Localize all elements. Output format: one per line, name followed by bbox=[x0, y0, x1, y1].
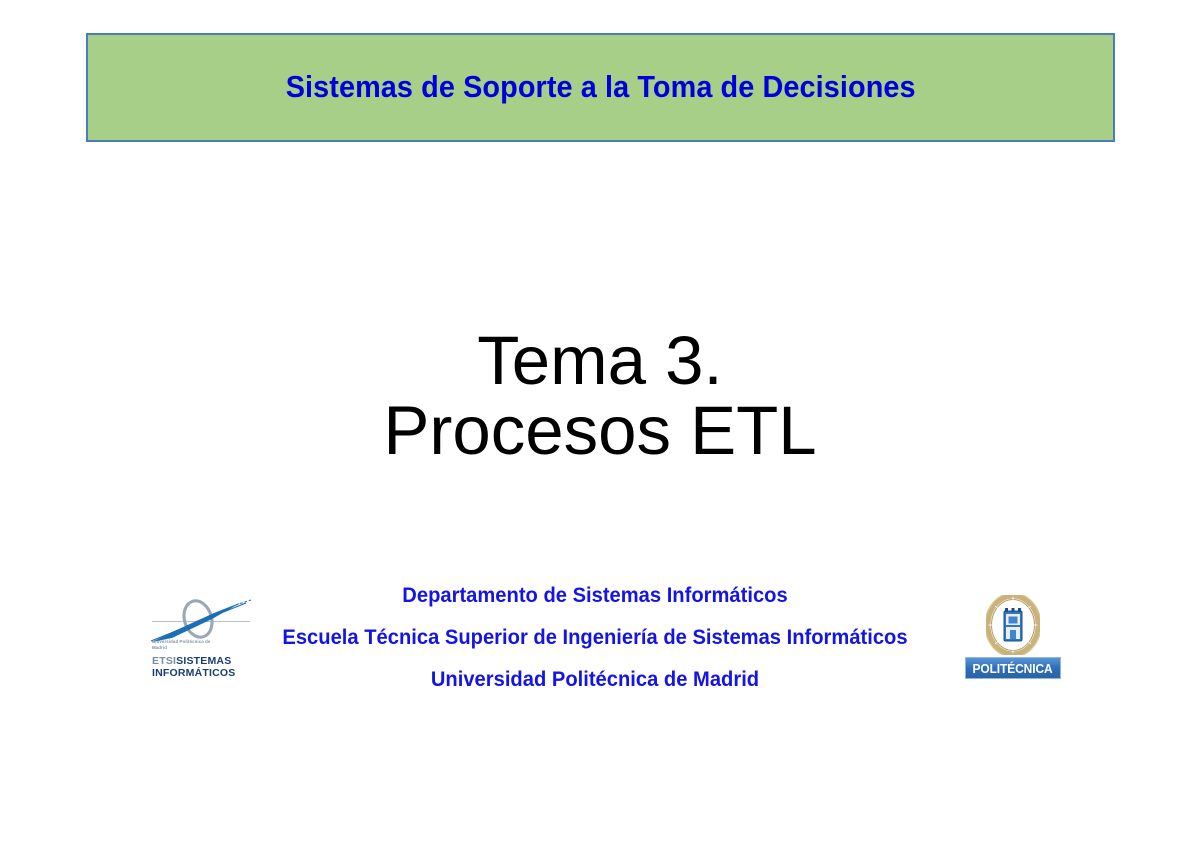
page-title: Tema 3. Procesos ETL bbox=[0, 326, 1200, 467]
etsisi-ellipse-arrow-icon bbox=[150, 597, 254, 643]
upm-logo-band: POLITÉCNICA bbox=[965, 657, 1061, 679]
upm-seal-icon bbox=[986, 595, 1040, 655]
footer-line-university: Universidad Politécnica de Madrid bbox=[269, 659, 922, 701]
header-banner: Sistemas de Soporte a la Toma de Decisio… bbox=[86, 33, 1115, 142]
etsisi-logo-prefix: ETSI bbox=[152, 655, 176, 667]
footer-line-department: Departamento de Sistemas Informáticos bbox=[269, 575, 922, 617]
slide-canvas: Sistemas de Soporte a la Toma de Decisio… bbox=[0, 0, 1200, 849]
upm-logo-band-label: POLITÉCNICA bbox=[973, 661, 1053, 676]
footer-line-school: Escuela Técnica Superior de Ingeniería d… bbox=[269, 617, 922, 659]
header-title: Sistemas de Soporte a la Toma de Decisio… bbox=[286, 70, 916, 104]
page-title-line2: Procesos ETL bbox=[0, 396, 1200, 466]
etsisi-logo-name: ETSISISTEMAS INFORMÁTICOS bbox=[152, 655, 254, 679]
upm-logo: POLITÉCNICA bbox=[965, 595, 1061, 679]
etsisi-logo: Universidad Politécnica de Madrid ETSISI… bbox=[150, 597, 254, 675]
footer-block: Universidad Politécnica de Madrid ETSISI… bbox=[0, 575, 1200, 695]
etsisi-logo-name-line2: INFORMÁTICOS bbox=[152, 667, 235, 679]
etsisi-logo-tiny-text: Universidad Politécnica de Madrid bbox=[152, 639, 222, 650]
etsisi-logo-name-line1: SISTEMAS bbox=[176, 655, 231, 667]
footer-text-block: Departamento de Sistemas Informáticos Es… bbox=[255, 575, 935, 701]
page-title-line1: Tema 3. bbox=[0, 326, 1200, 396]
